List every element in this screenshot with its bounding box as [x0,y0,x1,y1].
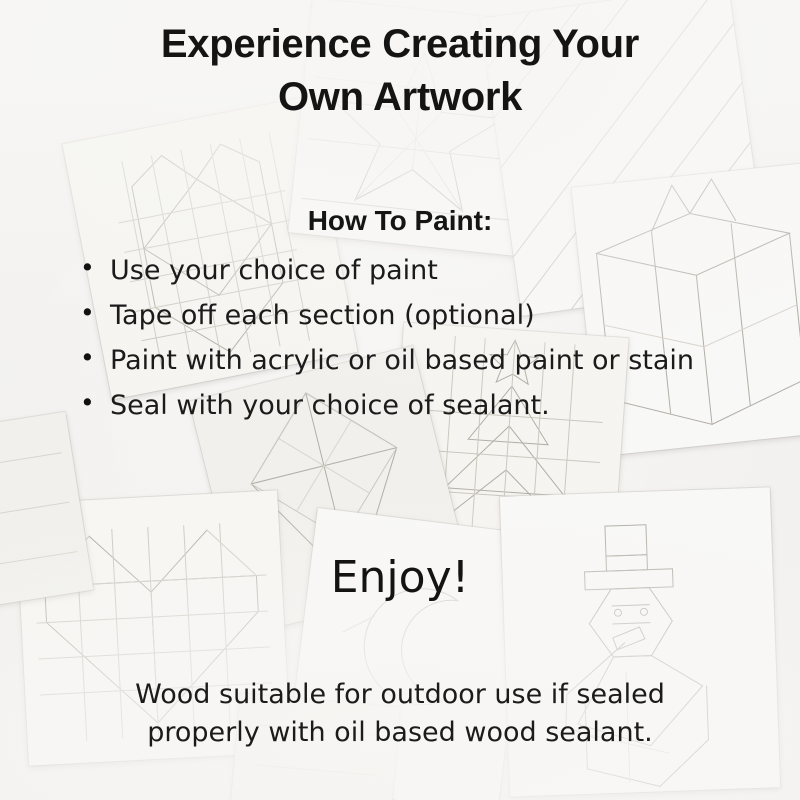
list-item: Use your choice of paint [74,250,774,291]
title-line-1: Experience Creating Your [161,22,639,66]
section-heading-how-to-paint: How To Paint: [40,205,760,237]
instructions-list: Use your choice of paint Tape off each s… [74,250,774,430]
footnote-line-2: properly with oil based wood sealant. [30,714,770,752]
enjoy-callout: Enjoy! [250,552,550,603]
footnote-line-1: Wood suitable for outdoor use if sealed [30,676,770,714]
list-item: Tape off each section (optional) [74,295,774,336]
page-title: Experience Creating Your Own Artwork [40,18,760,124]
list-item: Paint with acrylic or oil based paint or… [74,340,774,381]
list-item: Seal with your choice of sealant. [74,385,774,426]
text-overlay: Experience Creating Your Own Artwork How… [0,0,800,800]
title-line-2: Own Artwork [278,75,522,119]
poster-canvas: Experience Creating Your Own Artwork How… [0,0,800,800]
footnote-text: Wood suitable for outdoor use if sealed … [30,676,770,753]
